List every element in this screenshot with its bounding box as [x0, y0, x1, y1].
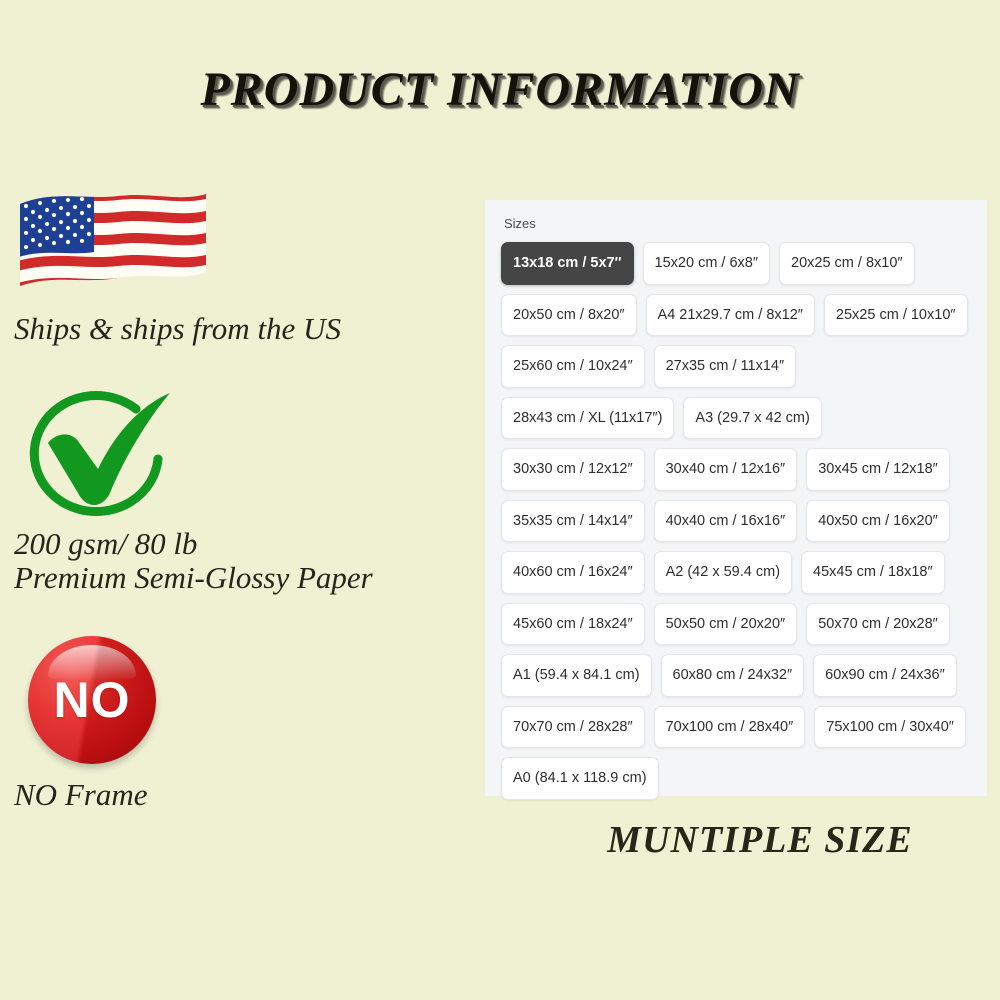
no-frame-caption: NO Frame [14, 778, 469, 813]
size-chip[interactable]: 13x18 cm / 5x7″ [501, 242, 634, 285]
size-chip[interactable]: 40x40 cm / 16x16″ [654, 500, 798, 543]
size-chip[interactable]: 45x45 cm / 18x18″ [801, 551, 945, 594]
size-chip[interactable]: 70x100 cm / 28x40″ [654, 706, 806, 749]
multiple-size-caption: MUNTIPLE SIZE [560, 818, 960, 862]
size-chip[interactable]: 45x60 cm / 18x24″ [501, 603, 645, 646]
size-chip[interactable]: 40x50 cm / 16x20″ [806, 500, 950, 543]
feature-no-frame: NO NO Frame [14, 636, 469, 813]
size-chip[interactable]: A3 (29.7 x 42 cm) [683, 397, 821, 440]
feature-paper: 200 gsm/ 80 lb Premium Semi-Glossy Paper [14, 381, 469, 596]
paper-weight-line: 200 gsm/ 80 lb [14, 527, 469, 562]
size-chip[interactable]: 35x35 cm / 14x14″ [501, 500, 645, 543]
feature-shipping: Ships & ships from the US [14, 186, 469, 347]
sizes-label: Sizes [504, 216, 971, 231]
size-chip[interactable]: 28x43 cm / XL (11x17″) [501, 397, 674, 440]
size-chip[interactable]: 15x20 cm / 6x8″ [643, 242, 770, 285]
size-chip[interactable]: 25x25 cm / 10x10″ [824, 294, 968, 337]
size-chip[interactable]: 60x90 cm / 24x36″ [813, 654, 957, 697]
size-chip[interactable]: 50x70 cm / 20x28″ [806, 603, 950, 646]
size-chip[interactable]: 40x60 cm / 16x24″ [501, 551, 645, 594]
us-flag-icon [14, 186, 210, 306]
size-chip[interactable]: A4 21x29.7 cm / 8x12″ [646, 294, 815, 337]
size-chip[interactable]: 60x80 cm / 24x32″ [661, 654, 805, 697]
size-chip[interactable]: A0 (84.1 x 118.9 cm) [501, 757, 659, 800]
size-chip[interactable]: 75x100 cm / 30x40″ [814, 706, 966, 749]
size-chip[interactable]: 30x40 cm / 12x16″ [654, 448, 798, 491]
paper-caption: 200 gsm/ 80 lb Premium Semi-Glossy Paper [14, 527, 469, 596]
size-chip[interactable]: A1 (59.4 x 84.1 cm) [501, 654, 652, 697]
size-chip[interactable]: 70x70 cm / 28x28″ [501, 706, 645, 749]
paper-type-line: Premium Semi-Glossy Paper [14, 561, 469, 596]
size-chip[interactable]: 20x25 cm / 8x10″ [779, 242, 915, 285]
sizes-panel: Sizes 13x18 cm / 5x7″15x20 cm / 6x8″20x2… [485, 200, 987, 796]
green-check-icon [18, 381, 186, 521]
size-chip[interactable]: 50x50 cm / 20x20″ [654, 603, 798, 646]
size-chip[interactable]: A2 (42 x 59.4 cm) [654, 551, 792, 594]
shipping-caption: Ships & ships from the US [14, 312, 469, 347]
no-badge-label: NO [28, 636, 156, 764]
no-badge-icon: NO [28, 636, 156, 764]
size-chip[interactable]: 27x35 cm / 11x14″ [654, 345, 797, 388]
size-chip[interactable]: 30x45 cm / 12x18″ [806, 448, 950, 491]
size-chip[interactable]: 30x30 cm / 12x12″ [501, 448, 645, 491]
size-chip-list: 13x18 cm / 5x7″15x20 cm / 6x8″20x25 cm /… [501, 242, 971, 800]
feature-list: Ships & ships from the US 200 gsm/ 80 lb… [14, 186, 469, 835]
size-chip[interactable]: 20x50 cm / 8x20″ [501, 294, 637, 337]
page-title: PRODUCT INFORMATION [0, 62, 1000, 117]
size-chip[interactable]: 25x60 cm / 10x24″ [501, 345, 645, 388]
